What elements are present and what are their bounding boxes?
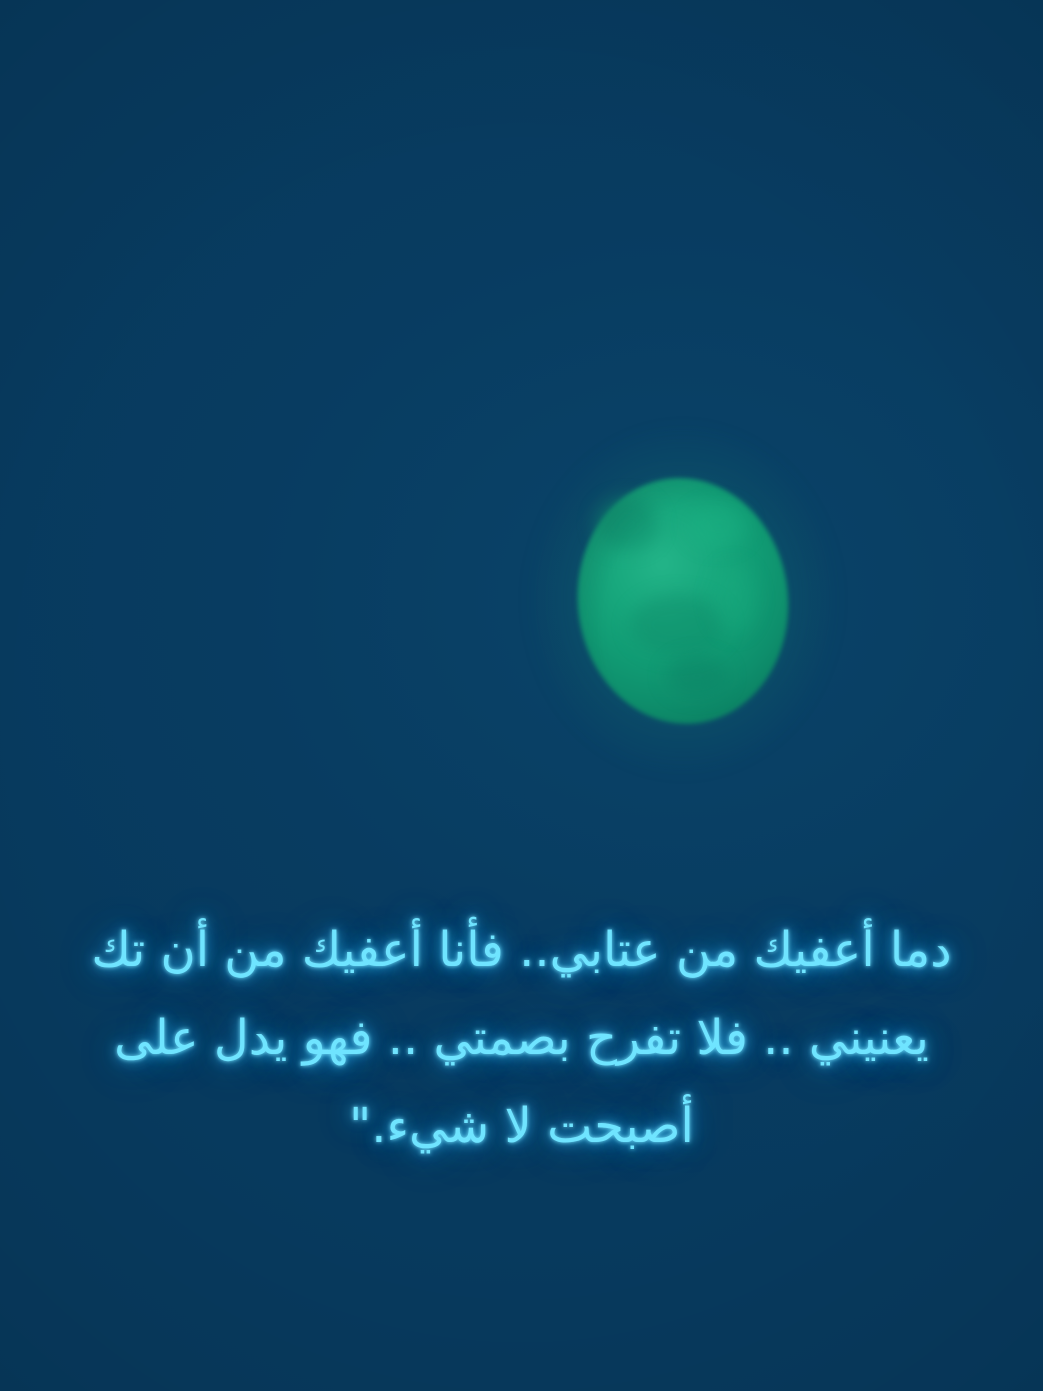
- caption-block: دما أعفيك من عتابي.. فأنا أعفيك من أن تك…: [0, 906, 1043, 1170]
- night-sky-background: [0, 0, 1043, 1391]
- moon: [570, 468, 796, 732]
- caption-line-3: أصبحت لا شيء.": [0, 1082, 1043, 1170]
- caption-line-2: يعنيني .. فلا تفرح بصمتي .. فهو يدل على: [0, 994, 1043, 1082]
- screenshot-canvas: دما أعفيك من عتابي.. فأنا أعفيك من أن تك…: [0, 0, 1043, 1391]
- caption-line-1: دما أعفيك من عتابي.. فأنا أعفيك من أن تك: [0, 906, 1043, 994]
